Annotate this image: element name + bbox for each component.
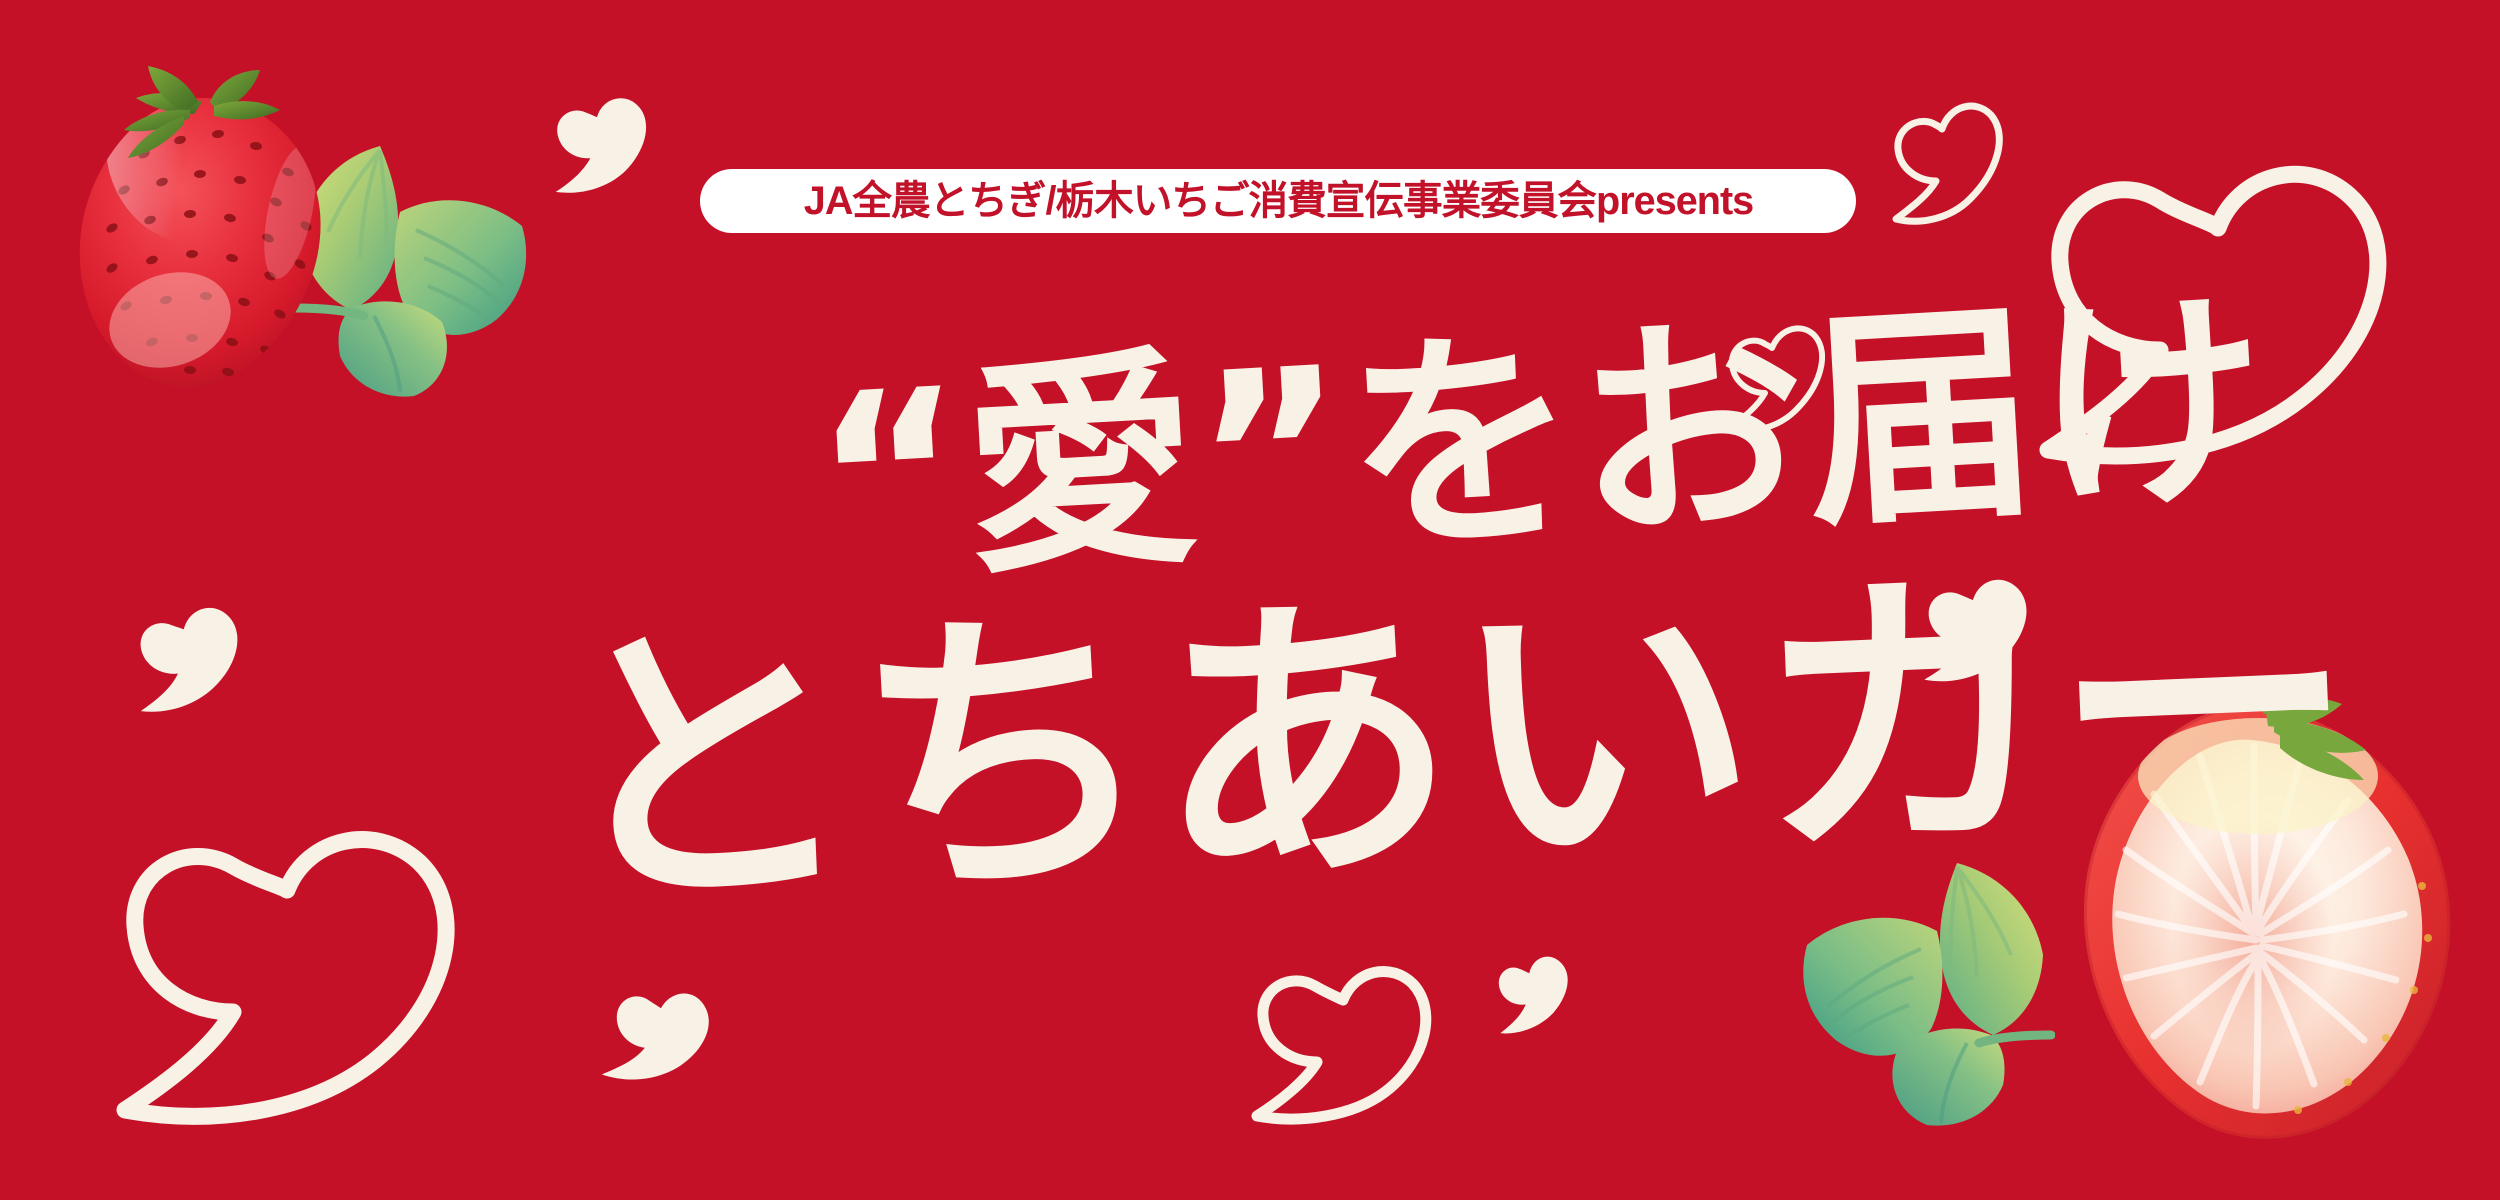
presenter-badge-label: JA全農とちぎ/栃木いちご消費宣伝事業委員会presents: [803, 181, 1752, 221]
heart-outline-icon: [1720, 320, 1825, 432]
heart-outline-icon: [1880, 95, 2005, 227]
strawberry-half-icon: [2030, 690, 2480, 1160]
heart-outline-icon: [2020, 150, 2420, 480]
strawberry-whole-icon: [52, 62, 352, 392]
heart-outline-icon: [95, 820, 485, 1140]
heart-filled-icon: [1911, 571, 2038, 689]
heart-filled-icon: [595, 979, 720, 1094]
heart-filled-icon: [1484, 948, 1581, 1040]
strawberry-leaf-icon: [1785, 855, 2055, 1135]
promo-banner: JA全農とちぎ/栃木いちご消費宣伝事業委員会presents “愛”をお届け と…: [0, 0, 2500, 1200]
heart-outline-icon: [1245, 960, 1445, 1135]
heart-filled-icon: [540, 90, 660, 201]
heart-filled-icon: [121, 597, 255, 721]
presenter-badge: JA全農とちぎ/栃木いちご消費宣伝事業委員会presents: [700, 169, 1856, 233]
